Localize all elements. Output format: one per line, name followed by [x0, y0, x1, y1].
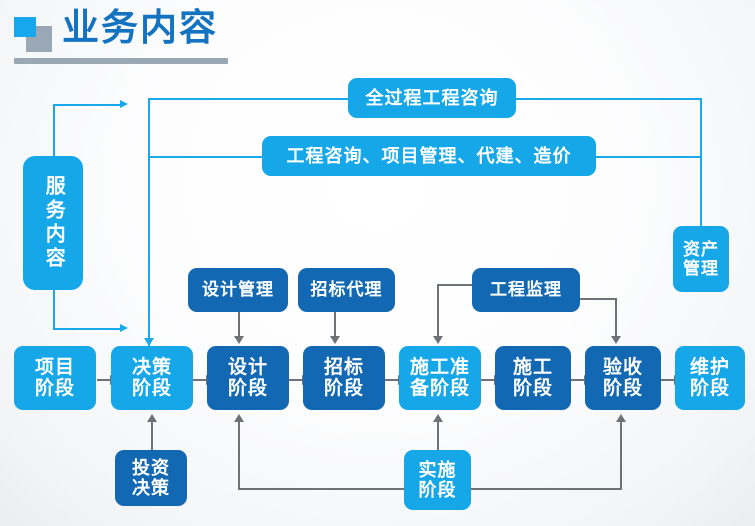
connector-banner2-left: [148, 156, 262, 158]
arrow-into-decision-stage: [144, 338, 154, 346]
node-implementation-stage[interactable]: 实施 阶段: [404, 450, 471, 510]
connector-left-trunk: [148, 98, 150, 346]
banner-full-process-consulting[interactable]: 全过程工程咨询: [348, 78, 516, 118]
connector-stage-4-5: [385, 379, 399, 381]
banner-consulting-scope[interactable]: 工程咨询、项目管理、代建、造价: [262, 136, 596, 176]
title-underline-divider: [14, 58, 228, 64]
arrow-scope-bottom: [120, 324, 128, 332]
connector-stage-3-4: [289, 379, 303, 381]
arrow-supervision-to-acceptance-stage: [611, 336, 621, 344]
connector-implementation-right-up: [620, 422, 622, 490]
scope-label-service-content[interactable]: 服务内容: [23, 156, 83, 290]
connector-banner2-right: [596, 156, 702, 158]
connector-supervision-left-drop: [437, 284, 439, 338]
arrow-design-mgmt-to-design-stage: [234, 336, 244, 344]
connector-investment-decision-up: [151, 422, 153, 450]
arrow-investment-decision-to-decision-stage: [147, 414, 157, 422]
arrow-implementation-to-acceptance-stage: [616, 414, 626, 422]
connector-scope-down: [53, 290, 55, 330]
stage-construction[interactable]: 施工 阶段: [495, 346, 571, 410]
stage-construction-prep[interactable]: 施工准 备阶段: [399, 346, 481, 410]
node-bidding-agency[interactable]: 招标代理: [298, 268, 395, 312]
connector-supervision-right-rail: [580, 298, 617, 300]
node-investment-decision[interactable]: 投资 决策: [115, 450, 187, 506]
connector-banner1-right: [516, 98, 702, 100]
square-blue-icon: [14, 17, 36, 37]
node-engineering-supervision[interactable]: 工程监理: [472, 268, 580, 312]
connector-bidding-agency-down: [334, 312, 336, 338]
connector-scope-up: [53, 104, 55, 156]
connector-stage-6-7: [571, 379, 585, 381]
connector-supervision-right-drop: [615, 298, 617, 338]
connector-scope-down-right: [53, 328, 121, 330]
connector-stage-2-3: [193, 379, 207, 381]
node-design-management[interactable]: 设计管理: [188, 268, 288, 312]
connector-design-mgmt-down: [238, 312, 240, 338]
arrow-implementation-to-construction-prep: [433, 414, 443, 422]
arrow-bidding-agency-to-bidding-stage: [330, 336, 340, 344]
node-asset-management[interactable]: 资产 管理: [673, 226, 729, 292]
page-title: 业务内容: [62, 6, 218, 50]
connector-implementation-up: [437, 422, 439, 450]
connector-stage-1-2: [97, 379, 111, 381]
arrow-supervision-to-construction-prep: [433, 336, 443, 344]
diagram-canvas: 业务内容 全过程工程咨询 工程咨询、项目管理、代建、造价 服务内容 资产 管理 …: [0, 0, 755, 526]
stage-decision[interactable]: 决策 阶段: [111, 346, 193, 410]
connector-scope-up-right: [53, 104, 121, 106]
arrow-implementation-to-design-stage: [234, 414, 244, 422]
arrow-scope-top: [120, 100, 128, 108]
stage-design[interactable]: 设计 阶段: [207, 346, 289, 410]
connector-stage-5-6: [481, 379, 495, 381]
stage-maintenance[interactable]: 维护 阶段: [675, 346, 745, 410]
connector-implementation-left-rail: [238, 488, 404, 490]
connector-implementation-right-rail: [470, 488, 622, 490]
connector-right-trunk: [700, 98, 702, 226]
header-icon-group: [14, 16, 60, 52]
stage-project[interactable]: 项目 阶段: [14, 346, 96, 410]
stage-acceptance[interactable]: 验收 阶段: [585, 346, 661, 410]
stage-bidding[interactable]: 招标 阶段: [303, 346, 385, 410]
connector-banner1-left: [148, 98, 348, 100]
connector-stage-7-8: [661, 379, 675, 381]
connector-implementation-left-up: [238, 422, 240, 490]
